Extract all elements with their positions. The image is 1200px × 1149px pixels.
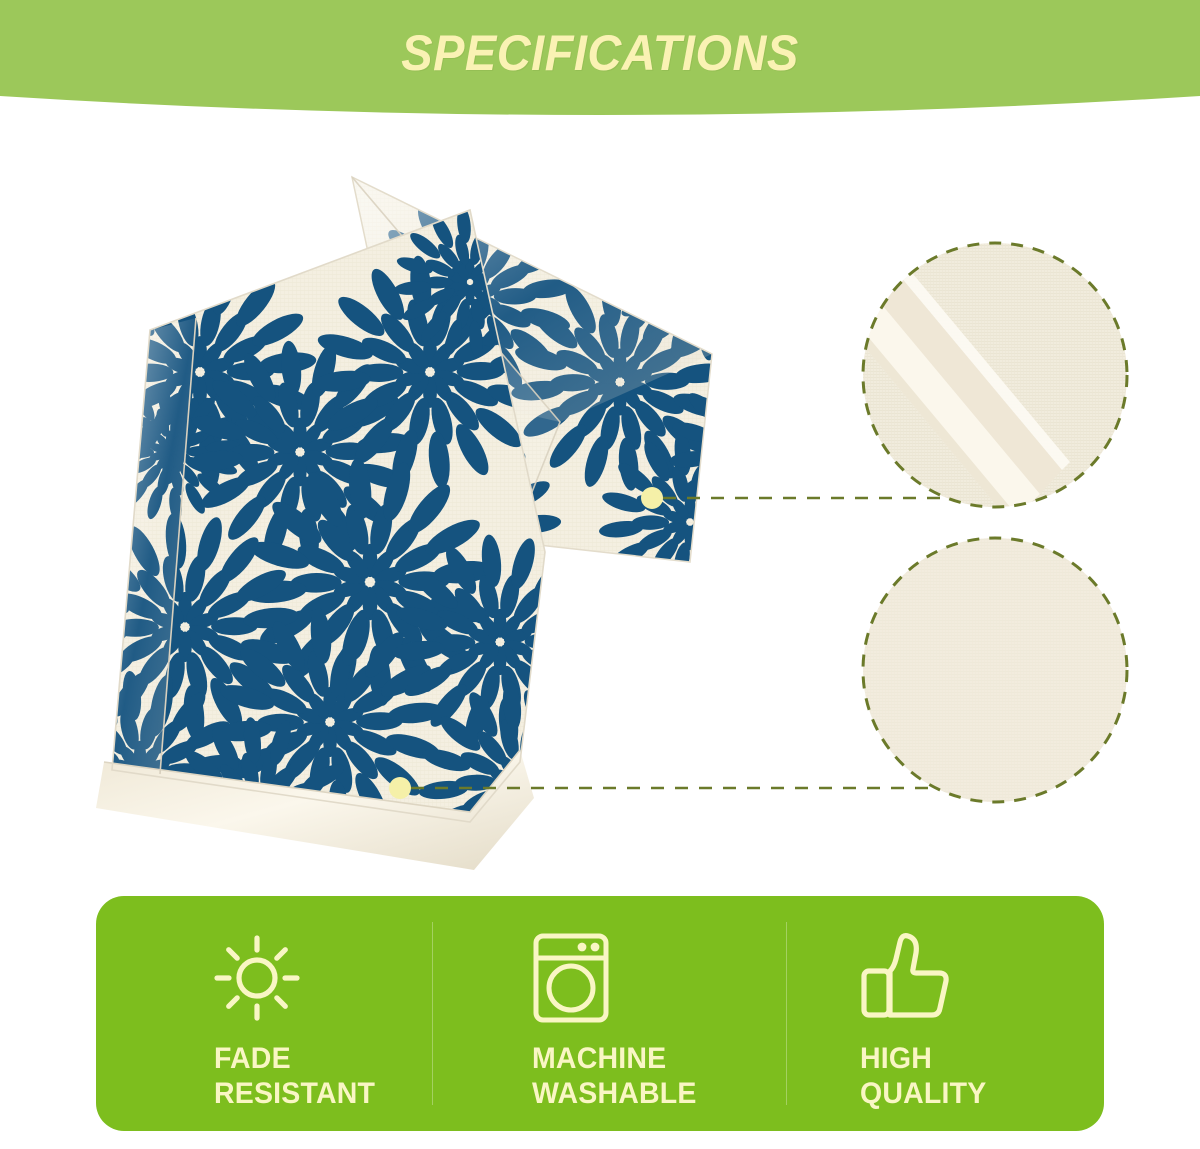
specifications-infographic: SPECIFICATIONS <box>0 0 1200 1149</box>
feature-bar: FADE RESISTANT MACHINE WASHABLE <box>96 896 1104 1131</box>
feature-label: HIGH QUALITY <box>860 1042 986 1112</box>
feature-machine-washable: MACHINE WASHABLE <box>458 896 776 1131</box>
callout-marker-weave <box>389 777 411 799</box>
product-photo-area <box>0 122 1200 882</box>
feature-fade-resistant: FADE RESISTANT <box>96 896 458 1131</box>
thumbs-up-icon <box>860 930 952 1026</box>
feature-high-quality: HIGH QUALITY <box>776 896 1104 1131</box>
callout-hem-stitch <box>641 240 1132 522</box>
washing-machine-icon <box>532 930 610 1026</box>
sun-icon <box>214 930 300 1026</box>
product-illustration <box>0 122 1200 882</box>
header-banner: SPECIFICATIONS <box>0 0 1200 122</box>
callout-circle-hem <box>848 240 1132 522</box>
callout-circle-weave <box>860 535 1132 807</box>
callout-marker-hem <box>641 487 663 509</box>
feature-label: MACHINE WASHABLE <box>532 1042 697 1112</box>
page-title: SPECIFICATIONS <box>36 24 1164 82</box>
feature-label: FADE RESISTANT <box>214 1042 375 1112</box>
